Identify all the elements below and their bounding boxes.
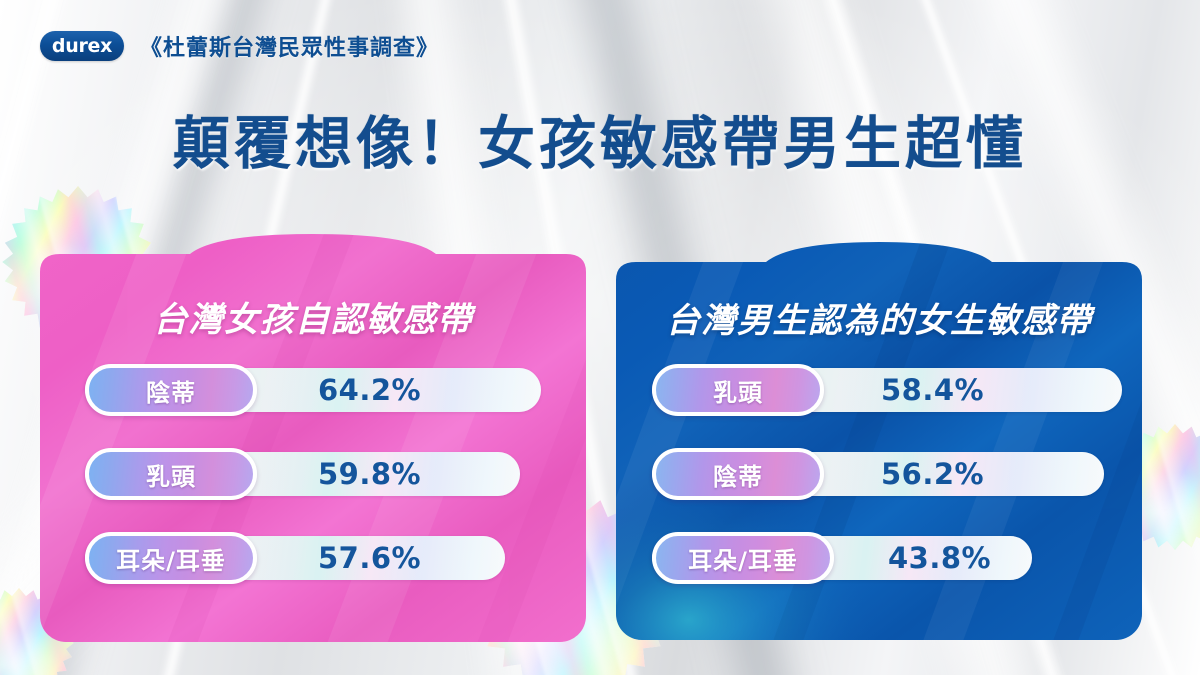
bar-category-label: 陰蒂 <box>713 457 763 492</box>
bar-value-label: 57.6% <box>318 536 421 580</box>
bar-row: 乳頭 59.8% <box>85 452 585 496</box>
bar-row: 陰蒂 64.2% <box>85 368 585 412</box>
panel-men-think: 台灣男生認為的女生敏感帶 乳頭 58.4% 陰蒂 56.2% <box>616 240 1142 640</box>
bar-label-pill: 乳頭 <box>652 364 824 416</box>
bar-row: 耳朵/耳垂 57.6% <box>85 536 585 580</box>
bar-value-label: 43.8% <box>888 536 991 580</box>
bar-value-label: 64.2% <box>318 368 421 412</box>
bar-category-label: 耳朵/耳垂 <box>688 541 798 576</box>
bar-row: 乳頭 58.4% <box>652 368 1142 412</box>
bar-category-label: 耳朵/耳垂 <box>116 541 226 576</box>
bar-category-label: 陰蒂 <box>146 373 196 408</box>
bar-label-pill: 陰蒂 <box>652 448 824 500</box>
bar-value-label: 59.8% <box>318 452 421 496</box>
bar-label-pill: 耳朵/耳垂 <box>652 532 834 584</box>
page-title: 顛覆想像！女孩敏感帶男生超懂 <box>0 98 1200 180</box>
bar-label-pill: 陰蒂 <box>85 364 257 416</box>
bar-row: 耳朵/耳垂 43.8% <box>652 536 1142 580</box>
durex-logo-text: durex <box>52 35 112 57</box>
bar-label-pill: 乳頭 <box>85 448 257 500</box>
bar-row: 陰蒂 56.2% <box>652 452 1142 496</box>
bar-category-label: 乳頭 <box>146 457 196 492</box>
panel-title-women: 台灣女孩自認敏感帶 <box>40 292 586 341</box>
bar-value-label: 56.2% <box>881 452 984 496</box>
durex-logo: durex <box>40 31 124 61</box>
bar-category-label: 乳頭 <box>713 373 763 408</box>
bar-label-pill: 耳朵/耳垂 <box>85 532 257 584</box>
bar-value-label: 58.4% <box>881 368 984 412</box>
header: durex 《杜蕾斯台灣民眾性事調查》 <box>40 30 439 62</box>
panel-women-self: 台灣女孩自認敏感帶 陰蒂 64.2% 乳頭 59.8% <box>40 232 586 642</box>
survey-subtitle: 《杜蕾斯台灣民眾性事調查》 <box>140 30 439 62</box>
panel-title-men: 台灣男生認為的女生敏感帶 <box>616 293 1142 342</box>
